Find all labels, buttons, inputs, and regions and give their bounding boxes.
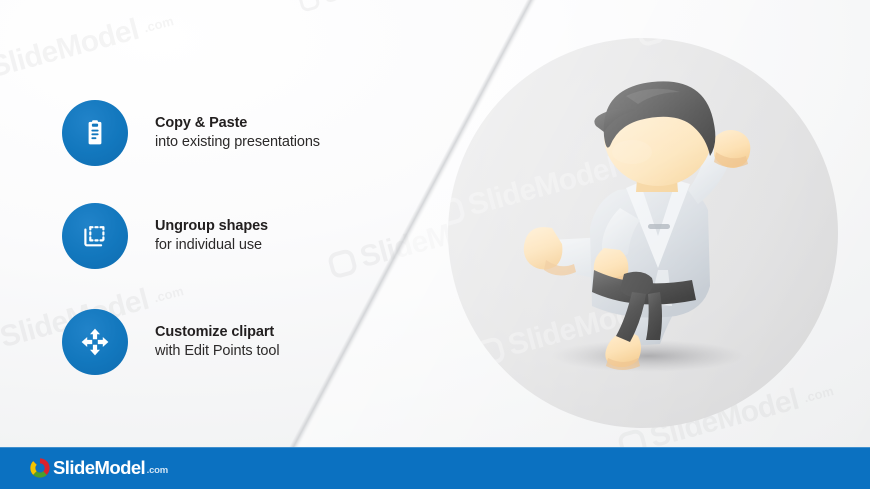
list-item-text: Customize clipart with Edit Points tool bbox=[155, 323, 279, 362]
move-arrows-icon[interactable] bbox=[62, 309, 128, 375]
list-item[interactable]: Customize clipart with Edit Points tool bbox=[62, 309, 279, 375]
list-item-subtitle: with Edit Points tool bbox=[155, 342, 279, 361]
list-item-subtitle: into existing presentations bbox=[155, 133, 320, 152]
list-item-subtitle: for individual use bbox=[155, 236, 268, 255]
logo-tld: .com bbox=[147, 465, 168, 476]
list-item[interactable]: Ungroup shapes for individual use bbox=[62, 203, 268, 269]
slidemodel-c-icon bbox=[29, 457, 51, 479]
logo-wordmark: SlideModel bbox=[53, 457, 145, 479]
list-item-title: Ungroup shapes bbox=[155, 217, 268, 236]
slide-canvas: SlideModel .com SlideModel .com SlideMod… bbox=[0, 0, 870, 489]
list-item-text: Copy & Paste into existing presentations bbox=[155, 114, 320, 153]
slidemodel-logo[interactable]: SlideModel .com bbox=[29, 457, 168, 479]
ungroup-shapes-icon[interactable] bbox=[62, 203, 128, 269]
clipboard-icon[interactable] bbox=[62, 100, 128, 166]
footer-bar: SlideModel .com bbox=[0, 447, 870, 489]
list-item-title: Customize clipart bbox=[155, 323, 279, 342]
list-item-text: Ungroup shapes for individual use bbox=[155, 217, 268, 256]
list-item-title: Copy & Paste bbox=[155, 114, 320, 133]
list-item[interactable]: Copy & Paste into existing presentations bbox=[62, 100, 320, 166]
footer-top-hairline bbox=[0, 447, 870, 448]
